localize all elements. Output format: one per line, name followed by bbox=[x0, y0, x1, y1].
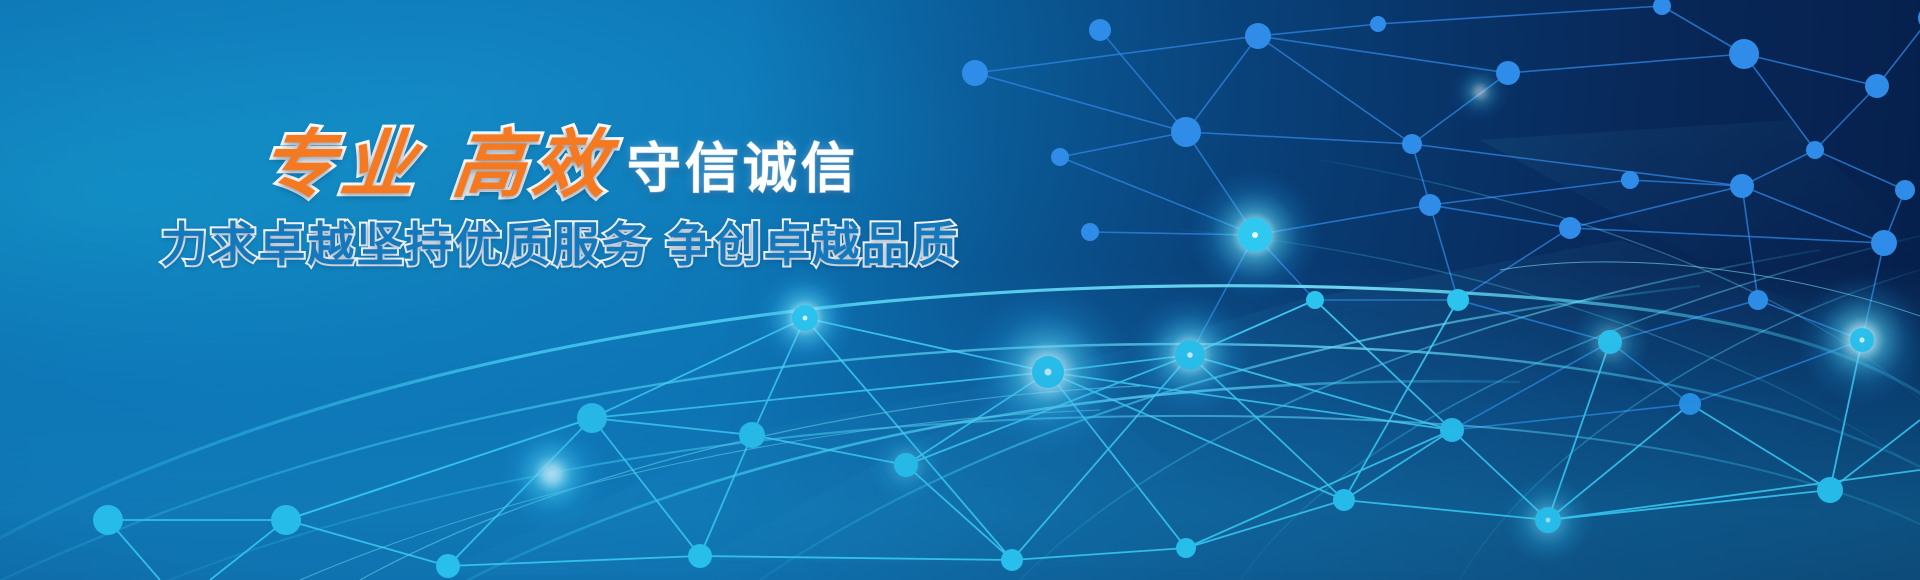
headline-trustworthy: 守信诚信 bbox=[627, 142, 859, 202]
headline-accent-professional: 专业 bbox=[257, 128, 425, 202]
promo-banner: 专业 高效 守信诚信 力求卓越坚持优质服务 争创卓越品质 bbox=[0, 0, 1920, 580]
banner-subheadline: 力求卓越坚持优质服务 争创卓越品质 bbox=[0, 206, 1120, 275]
banner-copy: 专业 高效 守信诚信 力求卓越坚持优质服务 争创卓越品质 bbox=[0, 128, 1120, 275]
banner-headline: 专业 高效 守信诚信 bbox=[0, 128, 1120, 202]
background-vignette bbox=[0, 0, 1920, 580]
headline-accent-efficient: 高效 bbox=[449, 128, 617, 202]
